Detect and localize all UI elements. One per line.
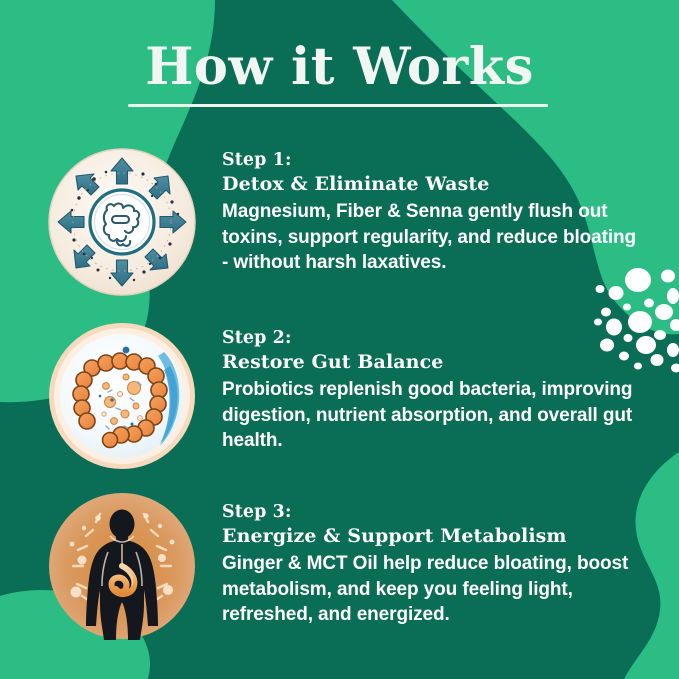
page-title-wrap: How it Works xyxy=(0,38,679,96)
step-1-heading: Detox & Eliminate Waste xyxy=(222,172,642,197)
step-1-body: Magnesium, Fiber & Senna gently flush ou… xyxy=(222,199,642,276)
step-2-number: Step 2: xyxy=(222,326,642,350)
step-3-text-block: Step 3: Energize & Support Metabolism Gi… xyxy=(222,500,642,628)
energize-metabolism-body-silhouette-icon xyxy=(48,492,196,640)
poster-canvas: How it Works xyxy=(0,0,679,679)
detox-radiating-arrows-intestine-icon xyxy=(48,148,196,296)
step-2-heading: Restore Gut Balance xyxy=(222,350,642,375)
step-1-text-block: Step 1: Detox & Eliminate Waste Magnesiu… xyxy=(222,148,642,276)
step-2-text-block: Step 2: Restore Gut Balance Probiotics r… xyxy=(222,326,642,454)
step-3-body: Ginger & MCT Oil help reduce bloating, b… xyxy=(222,551,642,628)
step-1-number: Step 1: xyxy=(222,148,642,172)
title-underline-rule xyxy=(128,104,548,107)
step-2-body: Probiotics replenish good bacteria, impr… xyxy=(222,377,642,454)
page-title: How it Works xyxy=(0,38,679,96)
step-3-number: Step 3: xyxy=(222,500,642,524)
step-3-heading: Energize & Support Metabolism xyxy=(222,524,642,549)
gut-balance-colon-probiotics-icon xyxy=(48,322,196,470)
